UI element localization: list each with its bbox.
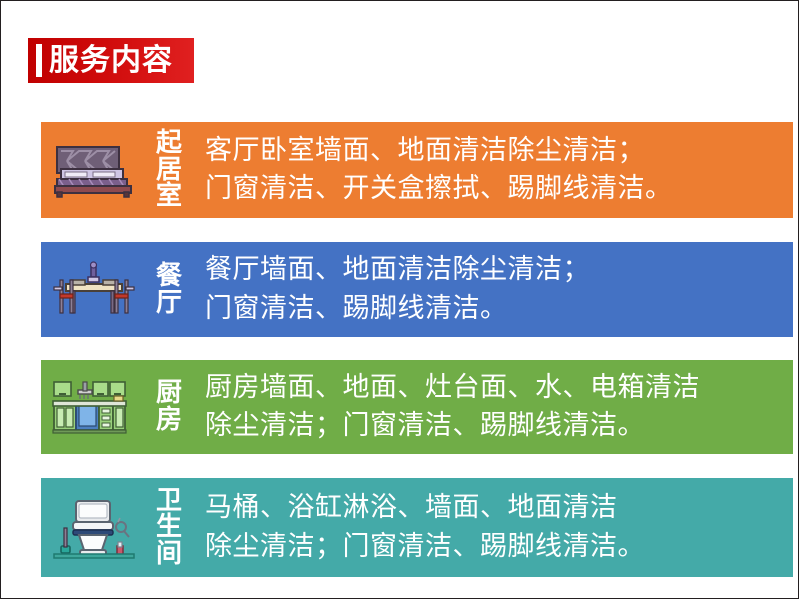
- service-row-livingroom: 起 居 室 客厅卧室墙面、地面清洁除尘清洁； 门窗清洁、开关盒擦拭、踢脚线清洁。: [41, 122, 793, 218]
- page-title: 服务内容: [49, 46, 173, 76]
- kitchen-cabinet-icon: [41, 378, 147, 436]
- service-row-label-dining: 餐 厅: [147, 263, 191, 316]
- label-char: 厨: [147, 380, 191, 407]
- label-char: 间: [147, 541, 191, 568]
- service-row-dining: 餐 厅 餐厅墙面、地面清洁除尘清洁； 门窗清洁、踢脚线清洁。: [41, 242, 793, 337]
- service-content-poster: 服务内容 起 居 室 客厅卧室墙面、地面清洁除尘清洁；: [0, 0, 799, 599]
- service-row-label-livingroom: 起 居 室: [147, 130, 191, 210]
- toilet-icon: [41, 496, 147, 560]
- service-text-line: 除尘清洁；门窗清洁、踢脚线清洁。: [205, 528, 793, 566]
- service-text-line: 门窗清洁、开关盒擦拭、踢脚线清洁。: [205, 170, 793, 208]
- service-row-label-bathroom: 卫 生 间: [147, 488, 191, 568]
- service-row-text-bathroom: 马桶、浴缸淋浴、墙面、地面清洁 除尘清洁；门窗清洁、踢脚线清洁。: [191, 489, 793, 566]
- title-accent-bar: [36, 44, 42, 77]
- service-text-line: 马桶、浴缸淋浴、墙面、地面清洁: [205, 489, 793, 527]
- service-text-line: 除尘清洁；门窗清洁、踢脚线清洁。: [205, 407, 793, 445]
- bed-icon: [41, 141, 147, 199]
- service-text-line: 门窗清洁、踢脚线清洁。: [205, 290, 793, 328]
- service-row-text-livingroom: 客厅卧室墙面、地面清洁除尘清洁； 门窗清洁、开关盒擦拭、踢脚线清洁。: [191, 132, 793, 209]
- service-row-kitchen: 厨 房 厨房墙面、地面、灶台面、水、电箱清洁 除尘清洁；门窗清洁、踢脚线清洁。: [41, 360, 793, 454]
- dining-table-icon: [41, 261, 147, 319]
- label-char: 卫: [147, 488, 191, 515]
- service-row-text-kitchen: 厨房墙面、地面、灶台面、水、电箱清洁 除尘清洁；门窗清洁、踢脚线清洁。: [191, 369, 793, 446]
- label-char: 起: [147, 130, 191, 157]
- service-text-line: 餐厅墙面、地面清洁除尘清洁；: [205, 251, 793, 289]
- label-char: 厅: [147, 290, 191, 317]
- page-title-block: 服务内容: [28, 38, 194, 83]
- label-char: 生: [147, 514, 191, 541]
- service-text-line: 客厅卧室墙面、地面清洁除尘清洁；: [205, 132, 793, 170]
- service-row-text-dining: 餐厅墙面、地面清洁除尘清洁； 门窗清洁、踢脚线清洁。: [191, 251, 793, 328]
- label-char: 室: [147, 183, 191, 210]
- service-row-bathroom: 卫 生 间 马桶、浴缸淋浴、墙面、地面清洁 除尘清洁；门窗清洁、踢脚线清洁。: [41, 478, 793, 577]
- label-char: 居: [147, 157, 191, 184]
- label-char: 房: [147, 407, 191, 434]
- service-text-line: 厨房墙面、地面、灶台面、水、电箱清洁: [205, 369, 793, 407]
- label-char: 餐: [147, 263, 191, 290]
- service-row-label-kitchen: 厨 房: [147, 380, 191, 433]
